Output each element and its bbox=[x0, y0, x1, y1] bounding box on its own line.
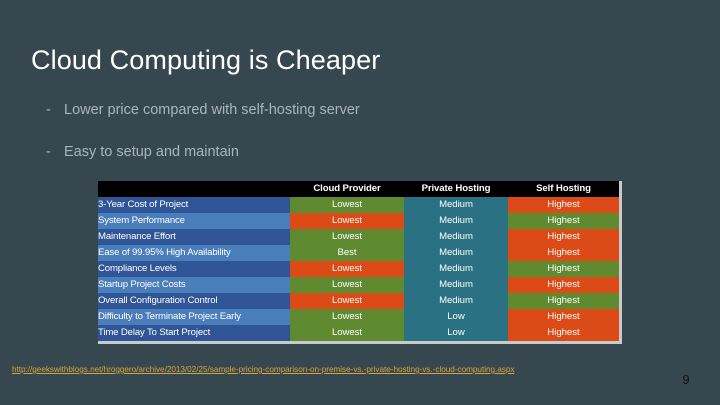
row-label: Ease of 99.95% High Availability bbox=[98, 245, 290, 261]
page-title: Cloud Computing is Cheaper bbox=[31, 44, 380, 77]
table-row: Overall Configuration ControlLowestMediu… bbox=[98, 293, 619, 309]
row-label: 3-Year Cost of Project bbox=[98, 197, 290, 213]
table-body: 3-Year Cost of ProjectLowestMediumHighes… bbox=[98, 197, 619, 341]
presentation-slide: Cloud Computing is Cheaper -Lower price … bbox=[0, 0, 720, 405]
cell-self-hosting: Highest bbox=[508, 213, 619, 229]
bullet-list: -Lower price compared with self-hosting … bbox=[46, 101, 606, 185]
bullet-marker-icon: - bbox=[46, 101, 64, 119]
table-header: Cloud Provider Private Hosting Self Host… bbox=[98, 181, 619, 197]
cell-private-hosting: Medium bbox=[404, 229, 508, 245]
cell-self-hosting: Highest bbox=[508, 293, 619, 309]
cell-self-hosting: Highest bbox=[508, 197, 619, 213]
pricing-comparison-table: Cloud Provider Private Hosting Self Host… bbox=[98, 181, 622, 344]
cell-self-hosting: Highest bbox=[508, 325, 619, 341]
cell-self-hosting: Highest bbox=[508, 229, 619, 245]
cell-private-hosting: Medium bbox=[404, 293, 508, 309]
bullet-item: -Easy to setup and maintain bbox=[46, 143, 606, 161]
source-link[interactable]: http://geekswithblogs.net/hroggero/archi… bbox=[12, 364, 514, 375]
table-row: 3-Year Cost of ProjectLowestMediumHighes… bbox=[98, 197, 619, 213]
table-row: Time Delay To Start ProjectLowestLowHigh… bbox=[98, 325, 619, 341]
slide-number: 9 bbox=[676, 372, 696, 388]
row-label: Startup Project Costs bbox=[98, 277, 290, 293]
table-row: System PerformanceLowestMediumHighest bbox=[98, 213, 619, 229]
table-row: Startup Project CostsLowestMediumHighest bbox=[98, 277, 619, 293]
row-label: Time Delay To Start Project bbox=[98, 325, 290, 341]
table-row: Maintenance EffortLowestMediumHighest bbox=[98, 229, 619, 245]
bullet-text: Easy to setup and maintain bbox=[64, 143, 606, 161]
bullet-item: -Lower price compared with self-hosting … bbox=[46, 101, 606, 119]
cell-private-hosting: Medium bbox=[404, 261, 508, 277]
column-header-self-hosting: Self Hosting bbox=[508, 181, 619, 197]
table-row: Difficulty to Terminate Project EarlyLow… bbox=[98, 309, 619, 325]
cell-private-hosting: Medium bbox=[404, 213, 508, 229]
row-label: System Performance bbox=[98, 213, 290, 229]
row-label: Overall Configuration Control bbox=[98, 293, 290, 309]
cell-cloud-provider: Lowest bbox=[290, 229, 404, 245]
cell-self-hosting: Highest bbox=[508, 277, 619, 293]
cell-cloud-provider: Lowest bbox=[290, 325, 404, 341]
cell-cloud-provider: Lowest bbox=[290, 277, 404, 293]
column-header-blank bbox=[98, 181, 290, 197]
table-row: Ease of 99.95% High AvailabilityBestMedi… bbox=[98, 245, 619, 261]
column-header-private-hosting: Private Hosting bbox=[404, 181, 508, 197]
table-header-row: Cloud Provider Private Hosting Self Host… bbox=[98, 181, 619, 197]
cell-cloud-provider: Lowest bbox=[290, 261, 404, 277]
row-label: Maintenance Effort bbox=[98, 229, 290, 245]
cell-private-hosting: Low bbox=[404, 325, 508, 341]
cell-self-hosting: Highest bbox=[508, 245, 619, 261]
cell-cloud-provider: Lowest bbox=[290, 213, 404, 229]
cell-self-hosting: Highest bbox=[508, 261, 619, 277]
cell-private-hosting: Low bbox=[404, 309, 508, 325]
cell-cloud-provider: Lowest bbox=[290, 309, 404, 325]
cell-private-hosting: Medium bbox=[404, 197, 508, 213]
column-header-cloud-provider: Cloud Provider bbox=[290, 181, 404, 197]
table-row: Compliance LevelsLowestMediumHighest bbox=[98, 261, 619, 277]
row-label: Difficulty to Terminate Project Early bbox=[98, 309, 290, 325]
bullet-marker-icon: - bbox=[46, 143, 64, 161]
cell-cloud-provider: Best bbox=[290, 245, 404, 261]
cell-private-hosting: Medium bbox=[404, 245, 508, 261]
cell-cloud-provider: Lowest bbox=[290, 197, 404, 213]
cell-cloud-provider: Lowest bbox=[290, 293, 404, 309]
cell-private-hosting: Medium bbox=[404, 277, 508, 293]
cell-self-hosting: Highest bbox=[508, 309, 619, 325]
bullet-text: Lower price compared with self-hosting s… bbox=[64, 101, 606, 119]
row-label: Compliance Levels bbox=[98, 261, 290, 277]
